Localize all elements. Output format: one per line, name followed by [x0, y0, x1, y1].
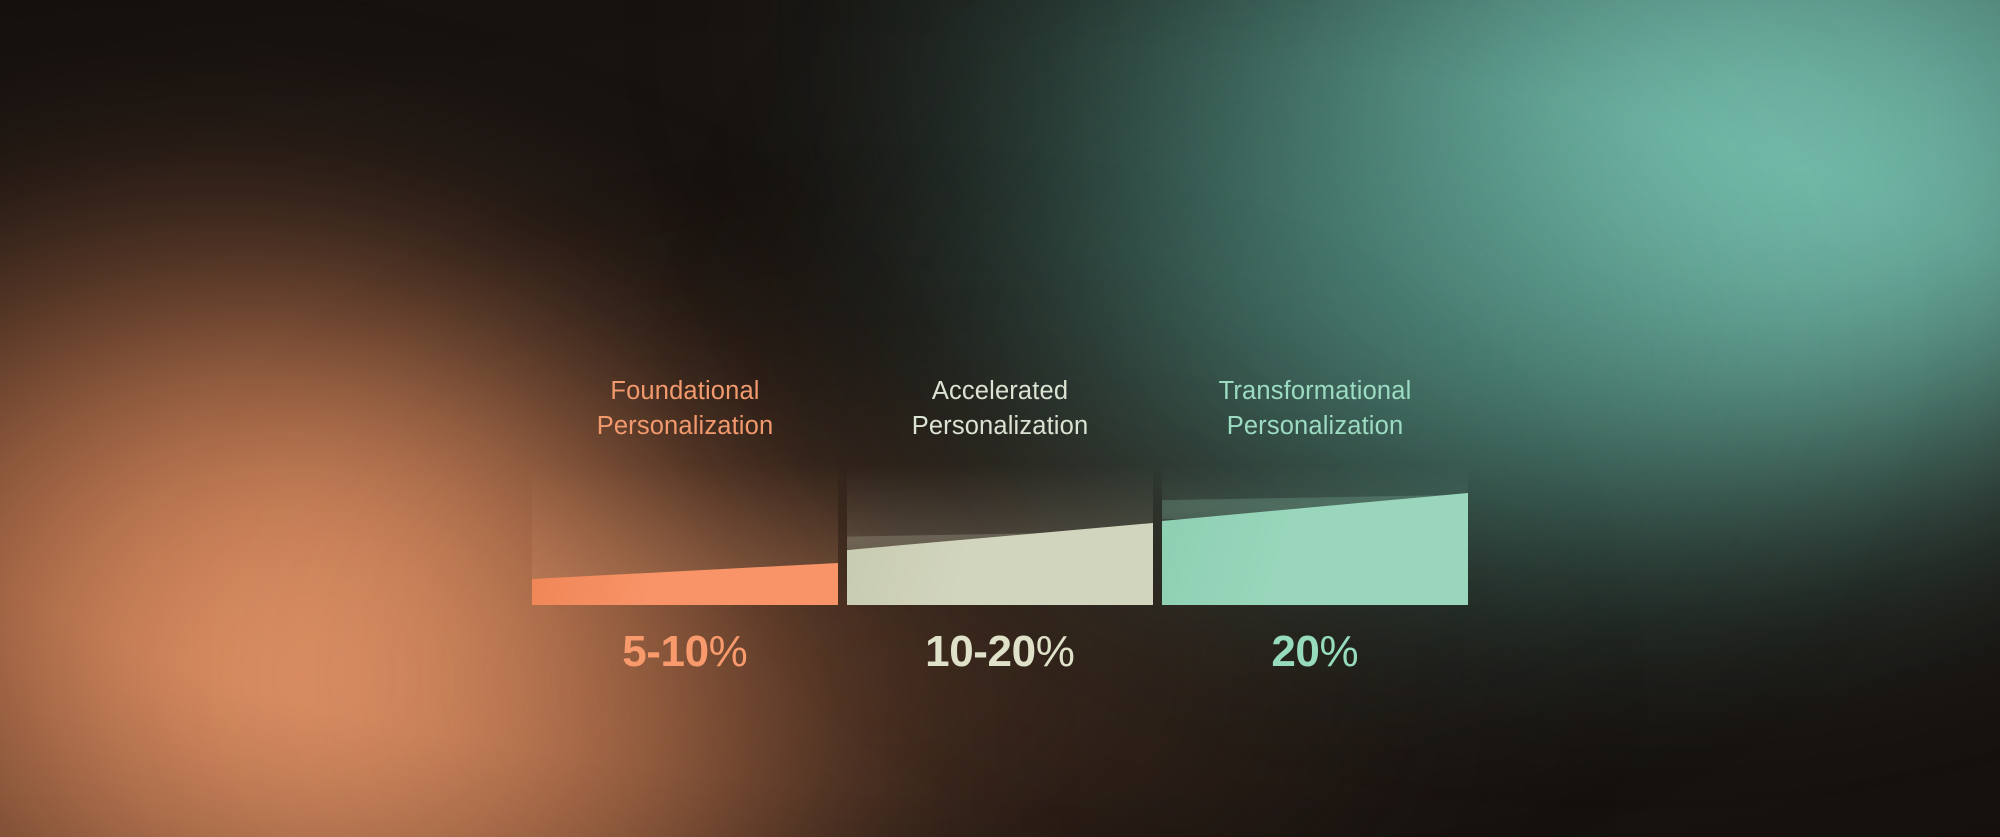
- column-bar-transformational: [1162, 465, 1468, 605]
- chart-column-accelerated: Accelerated Personalization 10-20%: [847, 374, 1153, 704]
- column-title-transformational: Transformational Personalization: [1162, 374, 1468, 444]
- slide-canvas: Foundational Personalization 5-10% Accel…: [0, 0, 2000, 837]
- column-value-accelerated: 10-20%: [847, 626, 1153, 678]
- value-number-transformational: 20: [1271, 627, 1319, 676]
- value-number-foundational: 5-10: [622, 627, 708, 676]
- column-bar-accelerated: [847, 465, 1153, 605]
- value-percent-foundational: %: [709, 627, 748, 676]
- column-value-transformational: 20%: [1162, 626, 1468, 678]
- column-title-foundational: Foundational Personalization: [532, 374, 838, 444]
- value-number-accelerated: 10-20: [925, 627, 1036, 676]
- column-title-accelerated: Accelerated Personalization: [847, 374, 1153, 444]
- value-percent-transformational: %: [1320, 627, 1359, 676]
- column-value-foundational: 5-10%: [532, 626, 838, 678]
- maturity-bar-chart: Foundational Personalization 5-10% Accel…: [532, 374, 1468, 704]
- value-percent-accelerated: %: [1036, 627, 1075, 676]
- column-bar-foundational: [532, 465, 838, 605]
- chart-column-foundational: Foundational Personalization 5-10%: [532, 374, 838, 704]
- chart-column-transformational: Transformational Personalization 20%: [1162, 374, 1468, 704]
